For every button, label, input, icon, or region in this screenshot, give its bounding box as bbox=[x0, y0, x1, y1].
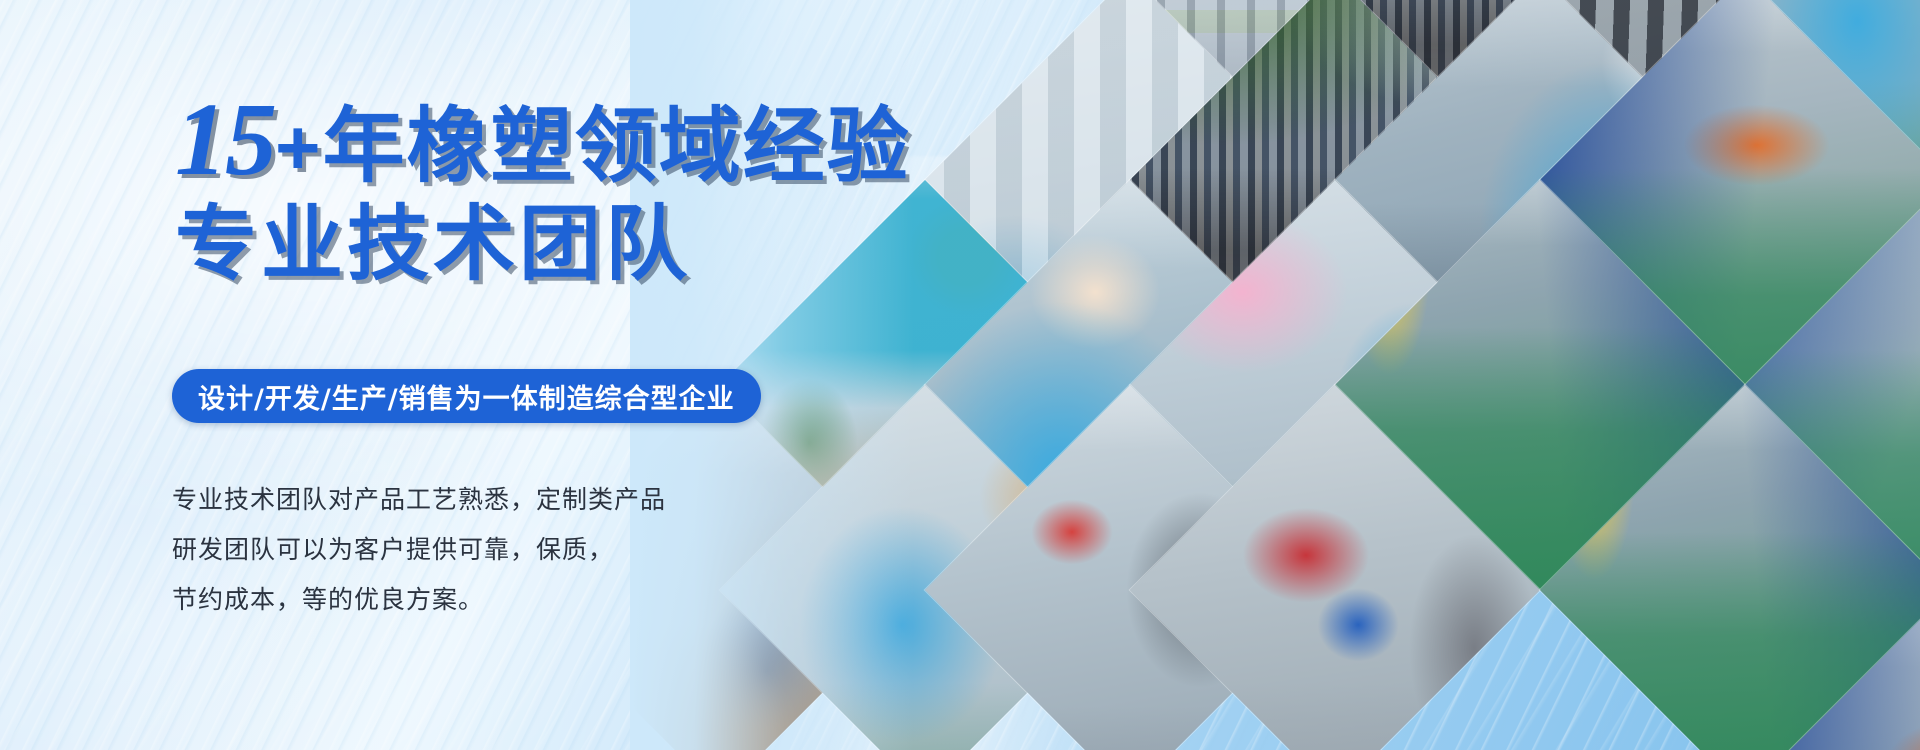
headline-years-number: 15 bbox=[175, 82, 275, 197]
description-line-1: 专业技术团队对产品工艺熟悉，定制类产品 bbox=[172, 486, 666, 514]
description-line-3: 节约成本，等的优良方案。 bbox=[172, 586, 666, 614]
promo-banner: 15+年橡塑领域经验 专业技术团队 设计/开发/生产/销售为一体制造综合型企业 … bbox=[0, 0, 1920, 750]
banner-content: 15+年橡塑领域经验 专业技术团队 设计/开发/生产/销售为一体制造综合型企业 … bbox=[0, 0, 760, 750]
headline: 15+年橡塑领域经验 专业技术团队 bbox=[175, 88, 911, 286]
tagline-badge-label: 设计/开发/生产/销售为一体制造综合型企业 bbox=[198, 377, 735, 416]
headline-plus-symbol: + bbox=[275, 103, 321, 191]
headline-line-1: 15+年橡塑领域经验 bbox=[175, 88, 911, 192]
headline-line-2: 专业技术团队 bbox=[175, 204, 911, 286]
description-line-2: 研发团队可以为客户提供可靠，保质， bbox=[172, 536, 666, 564]
headline-line-1-suffix: 年橡塑领域经验 bbox=[323, 99, 911, 194]
tagline-badge[interactable]: 设计/开发/生产/销售为一体制造综合型企业 bbox=[172, 369, 761, 423]
description-paragraph: 专业技术团队对产品工艺熟悉，定制类产品 研发团队可以为客户提供可靠，保质， 节约… bbox=[172, 486, 666, 614]
headline-line-2-text: 专业技术团队 bbox=[175, 197, 691, 292]
